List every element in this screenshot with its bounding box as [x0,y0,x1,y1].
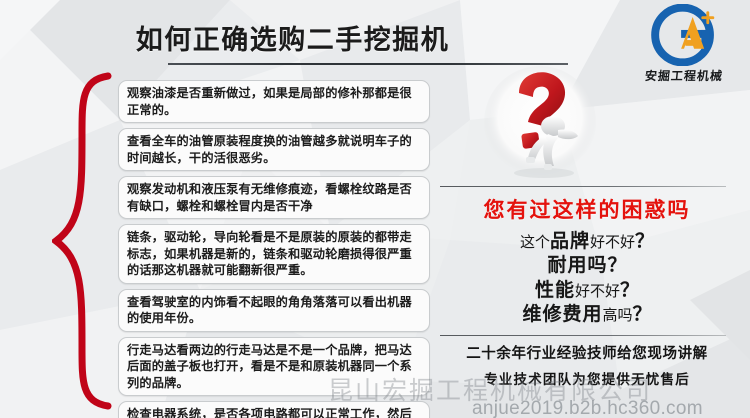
list-item[interactable]: 观察发动机和液压泵有无维修痕迹，看螺栓纹路是否有缺口，螺栓和螺栓冒内是否干净 [118,176,430,219]
logo: 安掘工程机械 [626,4,742,90]
right-panel: 您有过这样的困惑吗 这个品牌好不好？ 耐用吗？ 性能好不好？ 维修费用高吗？ 二… [432,186,742,388]
list-item-text: 查看驾驶室的内饰看不起眼的角角落落可以看出机器的使用年份。 [127,294,422,327]
question-mark-figure-icon [470,60,610,190]
poster-canvas: 如何正确选购二手挖掘机 安掘工程机械 观察油漆是否重新做过，如果是局部的修补那都… [0,0,750,418]
question-post: 好不好 [575,284,620,300]
question-post: 好不好 [590,235,635,251]
question-item: 维修费用高吗？ [432,305,742,324]
question-mark: ？ [635,231,654,252]
page-title: 如何正确选购二手挖掘机 [0,18,585,57]
question-mark: ？ [620,280,639,301]
list-item[interactable]: 观察油漆是否重新做过，如果是局部的修补那都是很正常的。 [118,80,430,123]
question-key: 维修费用 [522,304,602,325]
question-key: 品牌 [550,231,590,252]
list-item[interactable]: 检查电器系统，是否各项电路都可以正常工作，然后进入电脑系统检查主板。 [118,401,430,418]
list-item-text: 检查电器系统，是否各项电路都可以正常工作，然后进入电脑系统检查主板。 [127,406,422,418]
question-mark: ？ [633,304,652,325]
right-headline: 您有过这样的困惑吗 [432,187,742,228]
footer-line-1: 二十余年行业经验技师给您现场讲解 [432,342,742,363]
question-pre: 这个 [520,235,550,251]
list-item-text: 链条，驱动轮，导向轮看是不是原装的原装的都带走标志，如果机器是新的，链条和驱动轮… [127,229,422,279]
list-item[interactable]: 链条，驱动轮，导向轮看是不是原装的原装的都带走标志，如果机器是新的，链条和驱动轮… [118,224,430,284]
question-mark: ？ [608,255,627,276]
list-item[interactable]: 查看全车的油管原装程度换的油管越多就说明车子的时间越长，干的活很恶劣。 [118,128,430,171]
question-post: 高吗 [602,308,632,324]
question-key: 耐用吗 [547,255,607,276]
list-item-text: 行走马达看两边的行走马达是不是一个品牌，把马达后面的盖子板也打开，看是不是和原装… [127,342,422,392]
checklist: 观察油漆是否重新做过，如果是局部的修补那都是很正常的。 查看全车的油管原装程度换… [118,80,430,418]
page-title-wrap: 如何正确选购二手挖掘机 [0,18,585,57]
company-logo-g-a-icon [647,4,721,66]
list-item-text: 观察发动机和液压泵有无维修痕迹，看螺栓纹路是否有缺口，螺栓和螺栓冒内是否干净 [127,181,422,214]
question-item: 耐用吗？ [432,256,742,275]
question-list: 这个品牌好不好？ 耐用吗？ 性能好不好？ 维修费用高吗？ [432,228,742,335]
right-footer: 二十余年行业经验技师给您现场讲解 专业技术团队为您提供无忧售后 [432,336,742,388]
question-item: 这个品牌好不好？ [432,232,742,251]
list-item[interactable]: 查看驾驶室的内饰看不起眼的角角落落可以看出机器的使用年份。 [118,289,430,332]
logo-company-text: 安掘工程机械 [625,67,743,84]
question-item: 性能好不好？ [432,281,742,300]
question-key: 性能 [535,280,575,301]
list-item-text: 查看全车的油管原装程度换的油管越多就说明车子的时间越长，干的活很恶劣。 [127,133,422,166]
curly-brace-icon [52,72,114,410]
footer-line-2: 专业技术团队为您提供无忧售后 [432,368,742,388]
list-item-text: 观察油漆是否重新做过，如果是局部的修补那都是很正常的。 [127,85,422,118]
list-item[interactable]: 行走马达看两边的行走马达是不是一个品牌，把马达后面的盖子板也打开，看是不是和原装… [118,337,430,397]
